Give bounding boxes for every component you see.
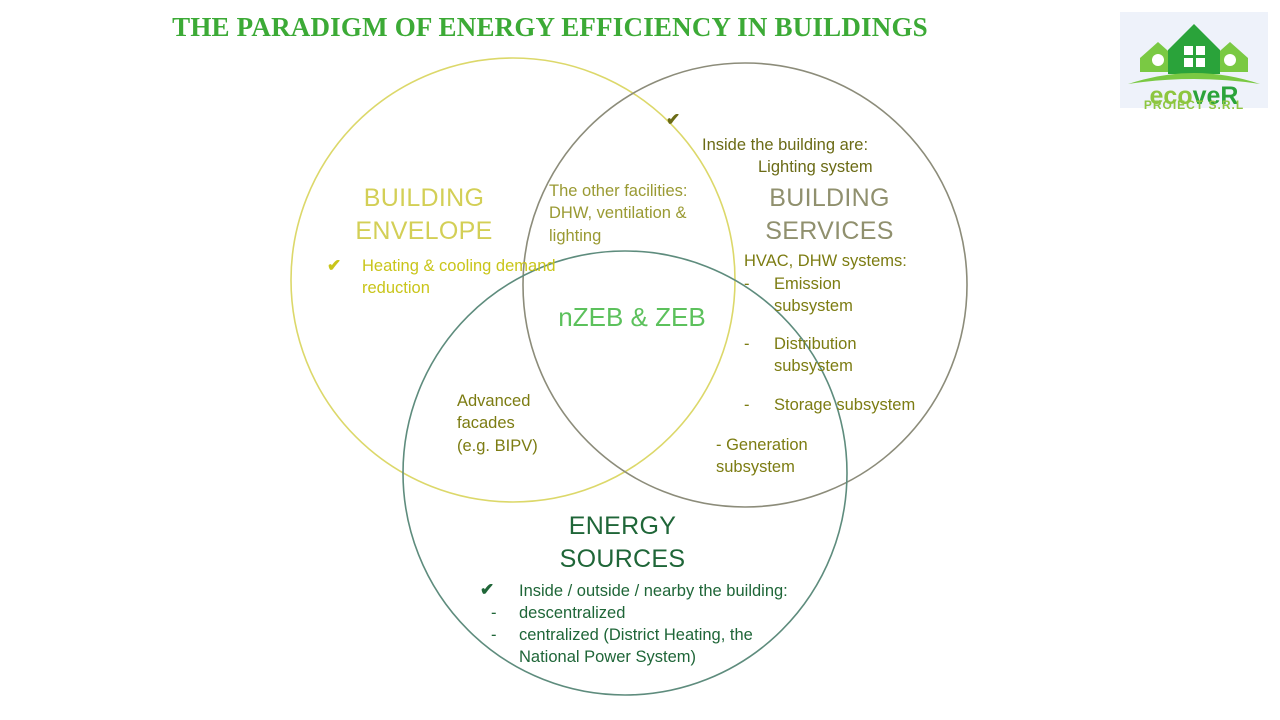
circle-title-building-envelope: BUILDING ENVELOPE — [318, 182, 530, 247]
sources-list-heading: Inside / outside / nearby the building: — [519, 581, 849, 602]
sources-list-item: - centralized (District Heating, the Nat… — [491, 625, 821, 669]
sources-list-item: - descentralized — [491, 603, 821, 625]
services-list-item: - Emission subsystem — [744, 274, 944, 318]
sources-list-item-label: centralized (District Heating, the Natio… — [491, 625, 821, 669]
check-icon-sources: ✔ — [480, 580, 494, 600]
list-dash: - — [744, 274, 750, 296]
list-dash: - — [744, 334, 750, 356]
overlap-envelope-sources-text: Advanced facades (e.g. BIPV) — [457, 390, 597, 457]
services-list-item-label: Storage subsystem — [744, 395, 959, 417]
sources-list-item-label: descentralized — [491, 603, 821, 625]
services-top-line1: Inside the building are: — [702, 136, 868, 154]
services-list-item-label: Distribution subsystem — [744, 334, 944, 378]
list-dash: - — [744, 395, 750, 417]
services-list-item: - Storage subsystem — [744, 395, 959, 417]
services-list-item-label: Emission subsystem — [744, 274, 944, 318]
services-list-heading: HVAC, DHW systems: — [744, 251, 974, 272]
services-top-line2: Lighting system — [702, 156, 922, 179]
check-icon-envelope: ✔ — [327, 256, 341, 276]
services-top-callout: Inside the building are: Lighting system — [702, 111, 922, 201]
center-label-nzeb-zeb: nZEB & ZEB — [552, 300, 712, 336]
services-list-item: - Distribution subsystem — [744, 334, 944, 378]
envelope-item-text: Heating & cooling demand reduction — [362, 256, 562, 300]
check-icon-services: ✔ — [666, 110, 680, 130]
services-list-item-generation: - Generation subsystem — [716, 435, 916, 479]
overlap-envelope-services-text: The other facilities: DHW, ventilation &… — [549, 180, 721, 247]
list-dash: - — [491, 625, 497, 647]
list-dash: - — [491, 603, 497, 625]
circle-title-energy-sources: ENERGY SOURCES — [515, 510, 730, 575]
